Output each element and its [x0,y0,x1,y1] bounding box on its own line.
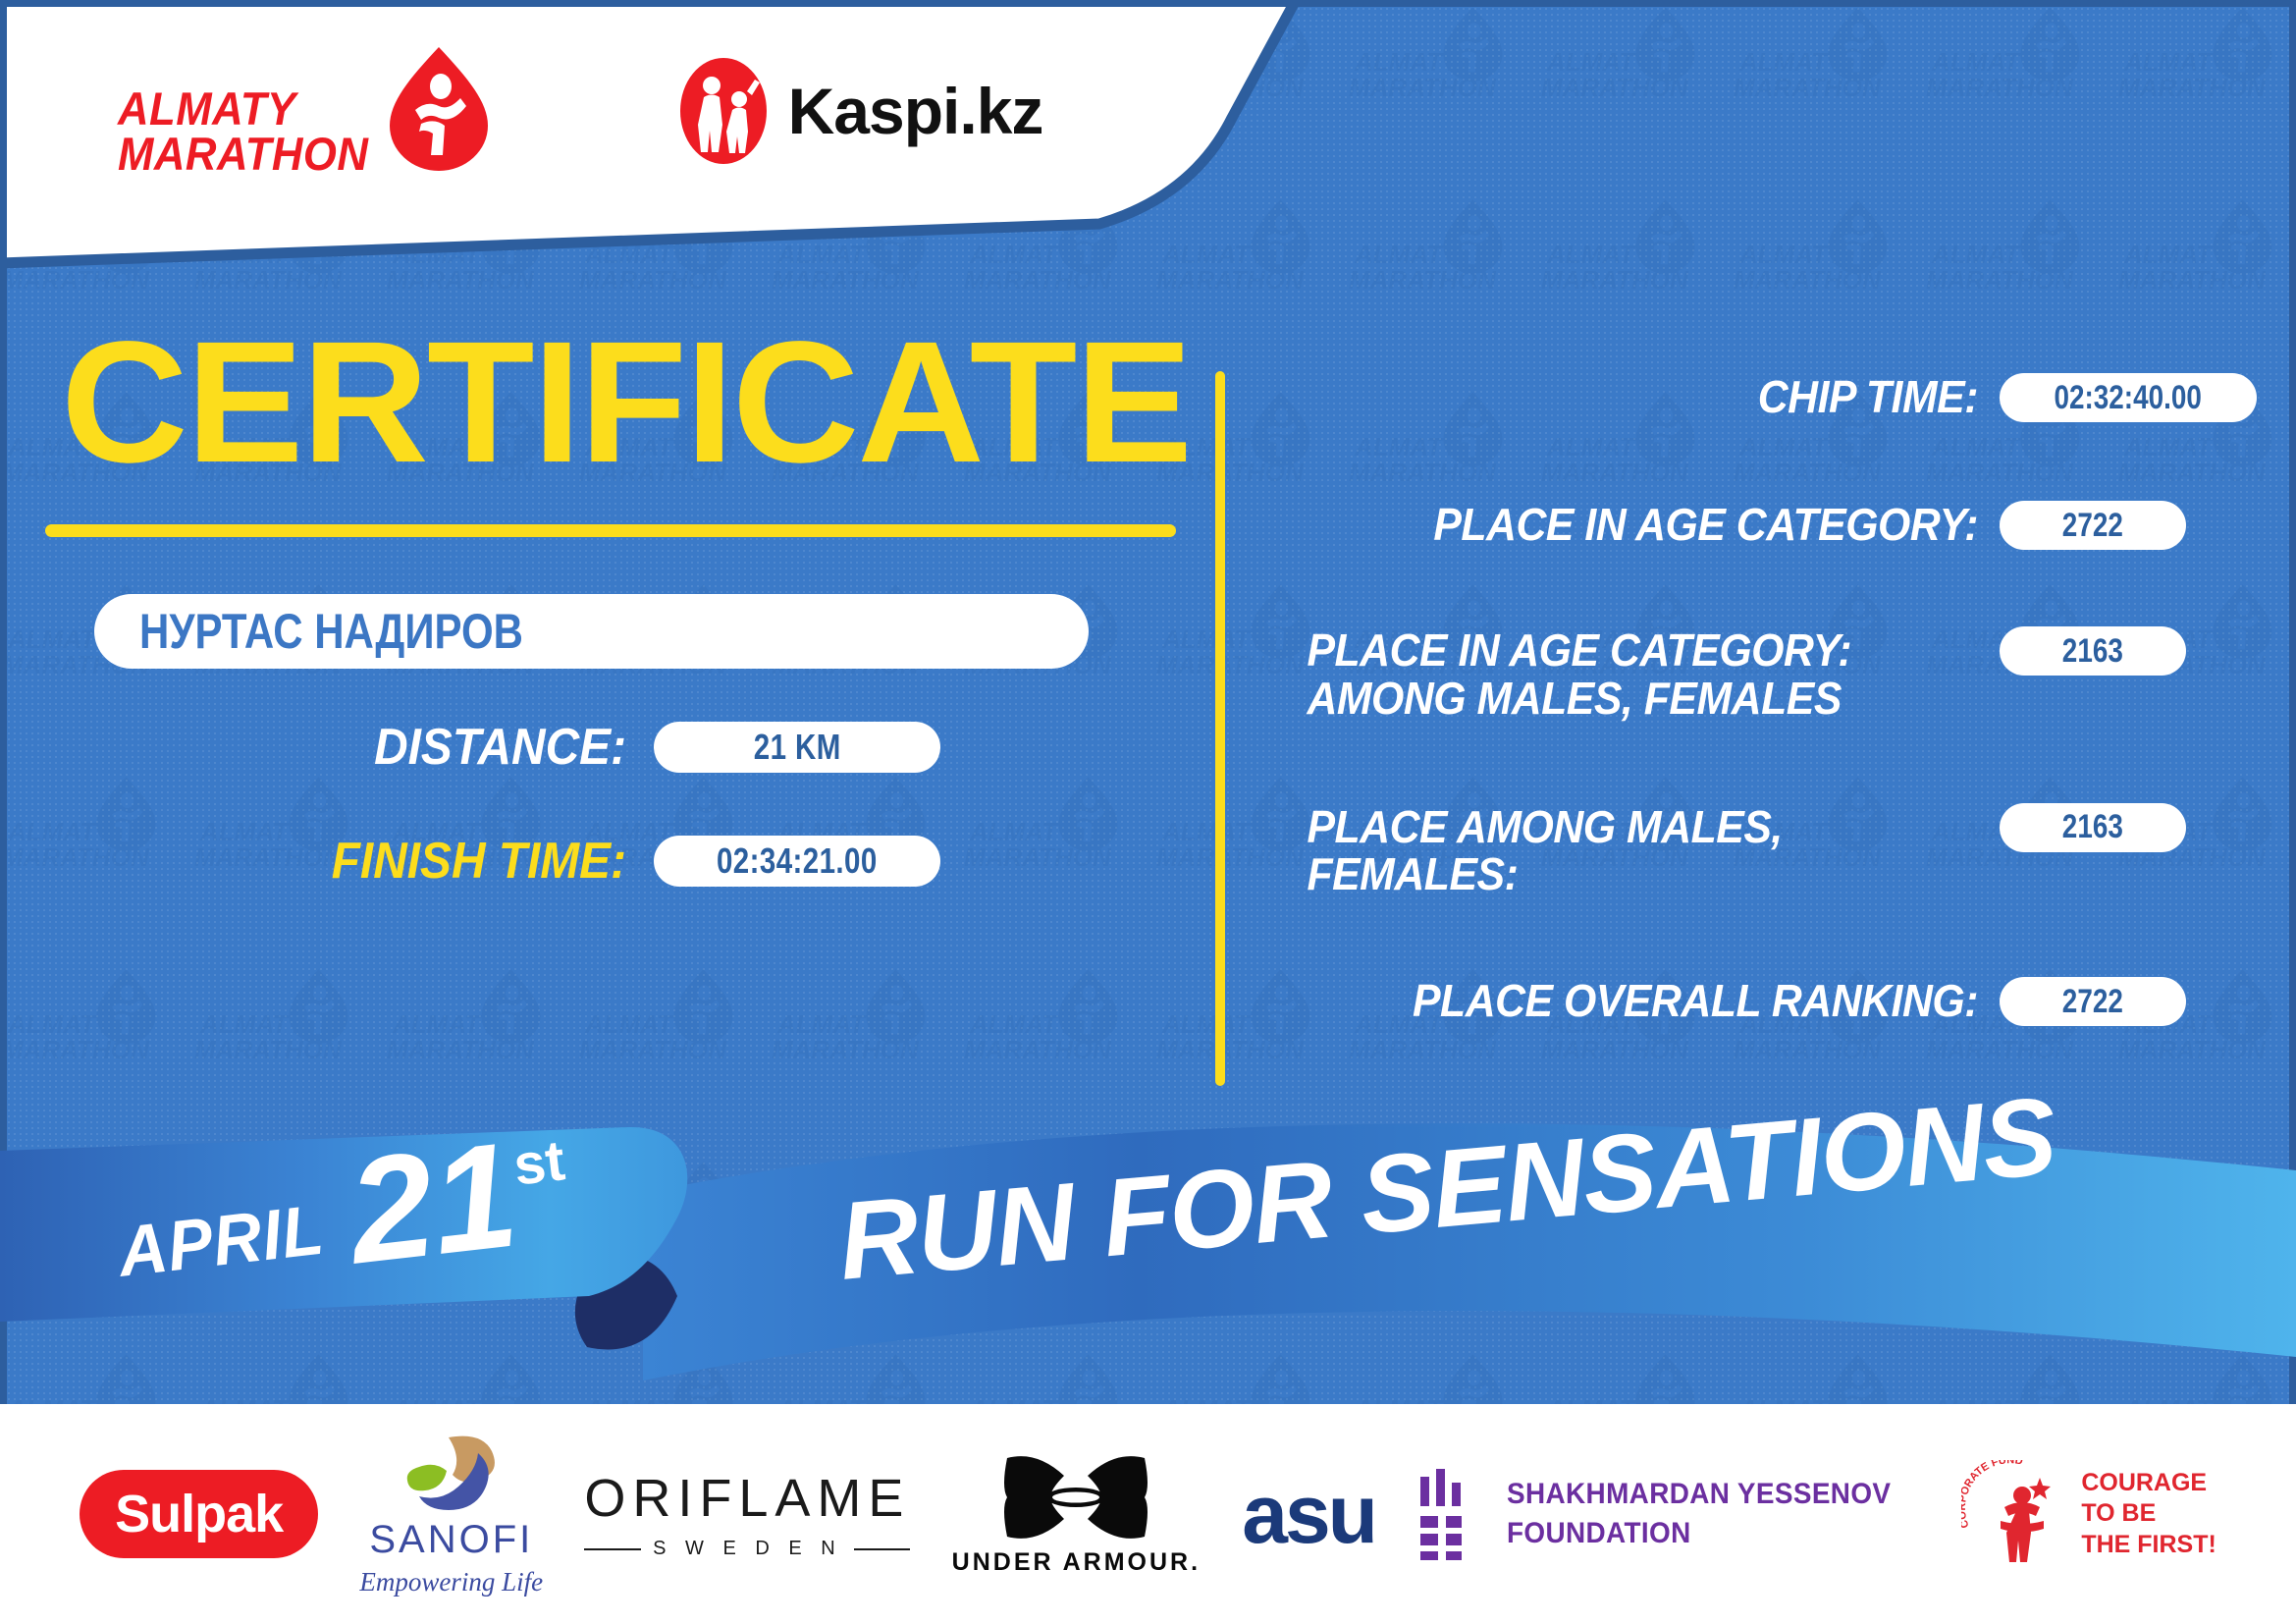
chip-time-value-pill: 02:32:40.00 [2000,373,2257,422]
participant-name-value: НУРТАС НАДИРОВ [139,603,523,660]
runner-droplet-icon [386,45,492,171]
place-age-category-gender-value: 2163 [2062,632,2123,671]
almaty-marathon-logo: ALMATY MARATHON [118,45,492,177]
result-row-chip-time: CHIP TIME: 02:32:40.00 [1256,373,2258,422]
courage-runner-icon: CORPORATE FUND [1961,1460,2071,1568]
sponsor-bar: Sulpak SANOFI Empowering Life ORIFLAME S… [0,1404,2296,1624]
sponsor-logo-oriflame: ORIFLAME S W E D E N [584,1468,910,1560]
place-age-category-gender-label-line1: PLACE IN AGE CATEGORY: [1307,626,1978,675]
place-among-gender-label-line2: FEMALES: [1307,850,1978,898]
place-among-gender-label-line1: PLACE AMONG MALES, [1307,803,1978,851]
asu-wordmark: asu [1242,1467,1375,1562]
under-armour-wordmark: UNDER ARMOUR. [952,1548,1201,1577]
header-logos: ALMATY MARATHON Kaspi.kz [118,45,1042,177]
under-armour-mark-icon [1003,1452,1148,1543]
sponsor-logo-corporate-fund: CORPORATE FUND COURAGE TO BE THE FIRST! [1961,1460,2216,1568]
finish-time-value-pill: 02:34:21.00 [654,836,940,887]
sanofi-tagline: Empowering Life [359,1567,543,1597]
place-overall-value-pill: 2722 [2000,977,2186,1026]
sanofi-mark-icon [398,1432,506,1514]
yessenov-line1: SHAKHMARDAN YESSENOV [1507,1475,1891,1515]
result-row-place-overall: PLACE OVERALL RANKING: 2722 [1256,977,2258,1026]
almaty-marathon-line1: ALMATY [118,86,368,132]
yessenov-foundation-wordmark: SHAKHMARDAN YESSENOV FOUNDATION [1507,1475,1891,1554]
results-panel: CHIP TIME: 02:32:40.00 PLACE IN AGE CATE… [1256,373,2258,1026]
distance-label: DISTANCE: [299,718,626,777]
sponsor-logo-under-armour: UNDER ARMOUR. [952,1452,1201,1577]
kaspi-people-icon [678,56,769,166]
courage-line2: TO BE [2081,1498,2216,1529]
oriflame-wordmark: ORIFLAME [584,1468,910,1529]
kaspi-logo: Kaspi.kz [678,56,1043,166]
place-among-gender-value-pill: 2163 [2000,803,2186,852]
vertical-yellow-divider [1215,371,1225,1086]
kaspi-wordmark: Kaspi.kz [788,74,1043,148]
distance-row: DISTANCE: 21 KM [271,718,1178,777]
place-age-category-gender-label: PLACE IN AGE CATEGORY: AMONG MALES, FEMA… [1307,626,1978,723]
sulpak-wordmark: Sulpak [115,1484,283,1544]
sponsor-logo-sulpak: Sulpak [80,1470,318,1558]
place-age-category-value: 2722 [2062,507,2123,545]
distance-value: 21 KM [754,727,841,768]
place-age-category-gender-label-line2: AMONG MALES, FEMALES [1307,675,1978,723]
place-age-category-value-pill: 2722 [2000,501,2186,550]
courage-fund-wordmark: COURAGE TO BE THE FIRST! [2081,1468,2216,1560]
yessenov-line2: FOUNDATION [1507,1514,1891,1554]
event-day: 21 [343,1127,522,1279]
certificate-canvas: ALMATY MARATHON Kaspi.kz CERT [0,0,2296,1624]
finish-time-label: FINISH TIME: [299,832,626,891]
event-day-suffix: st [510,1127,568,1198]
result-row-place-among-gender: PLACE AMONG MALES, FEMALES: 2163 [1256,803,2258,899]
distance-value-pill: 21 KM [654,722,940,773]
certificate-left-column: CERTIFICATE НУРТАС НАДИРОВ DISTANCE: 21 … [0,324,1178,891]
event-month: APRIL [114,1189,328,1292]
finish-time-value: 02:34:21.00 [717,840,878,882]
chip-time-label: CHIP TIME: [1307,373,1978,421]
finish-time-row: FINISH TIME: 02:34:21.00 [271,832,1178,891]
oriflame-rule-left [584,1548,641,1550]
result-row-place-age-category-gender: PLACE IN AGE CATEGORY: AMONG MALES, FEMA… [1256,626,2258,723]
place-among-gender-value: 2163 [2062,808,2123,846]
almaty-marathon-line2: MARATHON [118,132,368,177]
oriflame-rule-right [854,1548,911,1550]
almaty-marathon-wordmark: ALMATY MARATHON [118,86,368,177]
place-overall-value: 2722 [2062,983,2123,1021]
chip-time-value: 02:32:40.00 [2055,379,2202,417]
place-age-category-label: PLACE IN AGE CATEGORY: [1307,501,1978,549]
place-among-gender-label: PLACE AMONG MALES, FEMALES: [1307,803,1978,899]
sponsor-logo-asu: asu [1242,1467,1375,1562]
oriflame-sub-row: S W E D E N [584,1538,910,1560]
courage-line1: COURAGE [2081,1468,2216,1498]
result-row-place-age-category: PLACE IN AGE CATEGORY: 2722 [1256,501,2258,550]
title-underline-rule [45,524,1176,537]
participant-name-field: НУРТАС НАДИРОВ [94,594,1089,669]
sponsor-logo-yessenov-foundation: SHAKHMARDAN YESSENOV FOUNDATION [1416,1467,1920,1561]
place-overall-label: PLACE OVERALL RANKING: [1307,977,1978,1025]
top-border-strip [0,0,2296,7]
oriflame-sweden-label: S W E D E N [653,1538,842,1560]
yessenov-bars-icon [1416,1467,1485,1561]
page-title: CERTIFICATE [61,324,1201,483]
courage-line3: THE FIRST! [2081,1530,2216,1560]
sponsor-logo-sanofi: SANOFI Empowering Life [359,1432,543,1597]
place-age-category-gender-value-pill: 2163 [2000,626,2186,676]
sanofi-wordmark: SANOFI [369,1518,533,1562]
